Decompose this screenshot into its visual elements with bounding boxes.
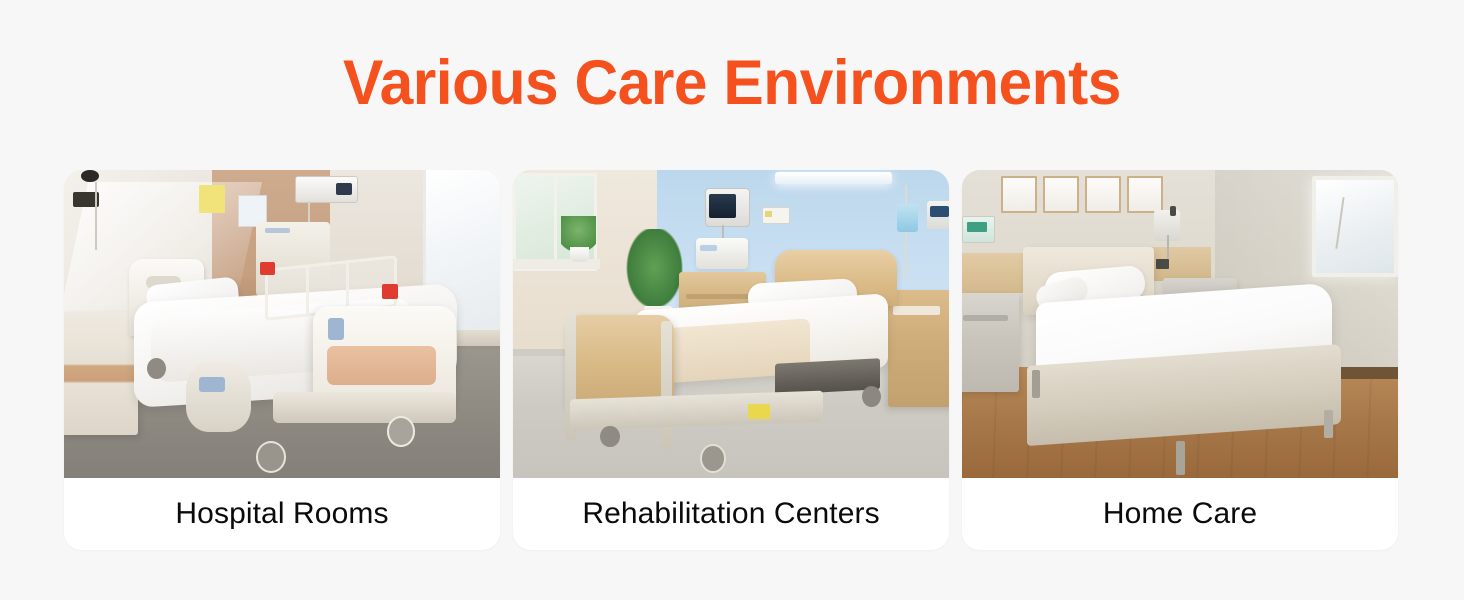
framed-documents [1001, 176, 1162, 213]
wall-control-panel [762, 207, 790, 224]
floor-baseboard [1341, 367, 1398, 379]
wood-wall-panel-left [962, 253, 1023, 293]
tree-branch [1335, 197, 1344, 249]
rehabilitation-center-photo [513, 170, 949, 478]
card-label: Home Care [962, 478, 1398, 550]
bed-leg [1032, 370, 1041, 398]
care-environment-card-grid: Hospital Rooms [64, 170, 1398, 550]
home-care-photo [962, 170, 1398, 478]
footboard-wood-insert [327, 346, 436, 385]
iv-bag [897, 204, 919, 232]
bed-post-right [661, 321, 671, 450]
medical-device [696, 238, 748, 269]
page-title: Various Care Environments [29, 48, 1434, 118]
nightstand [64, 312, 138, 435]
care-environment-card[interactable]: Home Care [962, 170, 1398, 550]
care-environment-card[interactable]: Hospital Rooms [64, 170, 500, 550]
bed-leg [1176, 441, 1186, 475]
framed-document [1043, 176, 1079, 213]
wall-poster-yellow [199, 185, 225, 213]
framed-document [1085, 176, 1121, 213]
patient-monitor [705, 188, 751, 227]
bed-caster-wheel [600, 426, 620, 448]
card-label: Rehabilitation Centers [513, 478, 949, 550]
call-button-cord [95, 182, 97, 250]
bed-caster-wheel [256, 441, 286, 473]
footboard-blue-pad [328, 318, 344, 340]
warning-label [748, 404, 770, 419]
window [1312, 176, 1398, 276]
page-root: Various Care Environments [0, 0, 1464, 600]
bed-leg [1324, 410, 1334, 438]
medical-gas-pipe [1167, 235, 1169, 260]
care-environment-card[interactable]: Rehabilitation Centers [513, 170, 949, 550]
bed-pedal-housing [186, 361, 251, 432]
framed-document [1001, 176, 1037, 213]
card-label: Hospital Rooms [64, 478, 500, 550]
nightstand-left [962, 293, 1019, 392]
framed-document [1127, 176, 1163, 213]
bed-footboard [565, 315, 674, 407]
bed-caster-wheel [700, 444, 726, 473]
large-plant [622, 229, 687, 315]
small-plant-pot [570, 247, 590, 262]
wood-wall-panel-right [1149, 247, 1210, 281]
ceiling-light [775, 172, 893, 184]
pedal-blue-pad [199, 377, 225, 393]
window-sill [513, 259, 600, 268]
wall-monitor [295, 176, 358, 203]
bed-caster-wheel [387, 416, 415, 446]
hospital-room-photo [64, 170, 500, 478]
rail-release-lever [382, 284, 397, 299]
wall-display-panel [962, 216, 995, 243]
bed-base-frame [273, 392, 456, 423]
nightstand-right [888, 290, 949, 407]
rail-release-lever [260, 262, 275, 274]
infusion-pump [927, 201, 949, 229]
